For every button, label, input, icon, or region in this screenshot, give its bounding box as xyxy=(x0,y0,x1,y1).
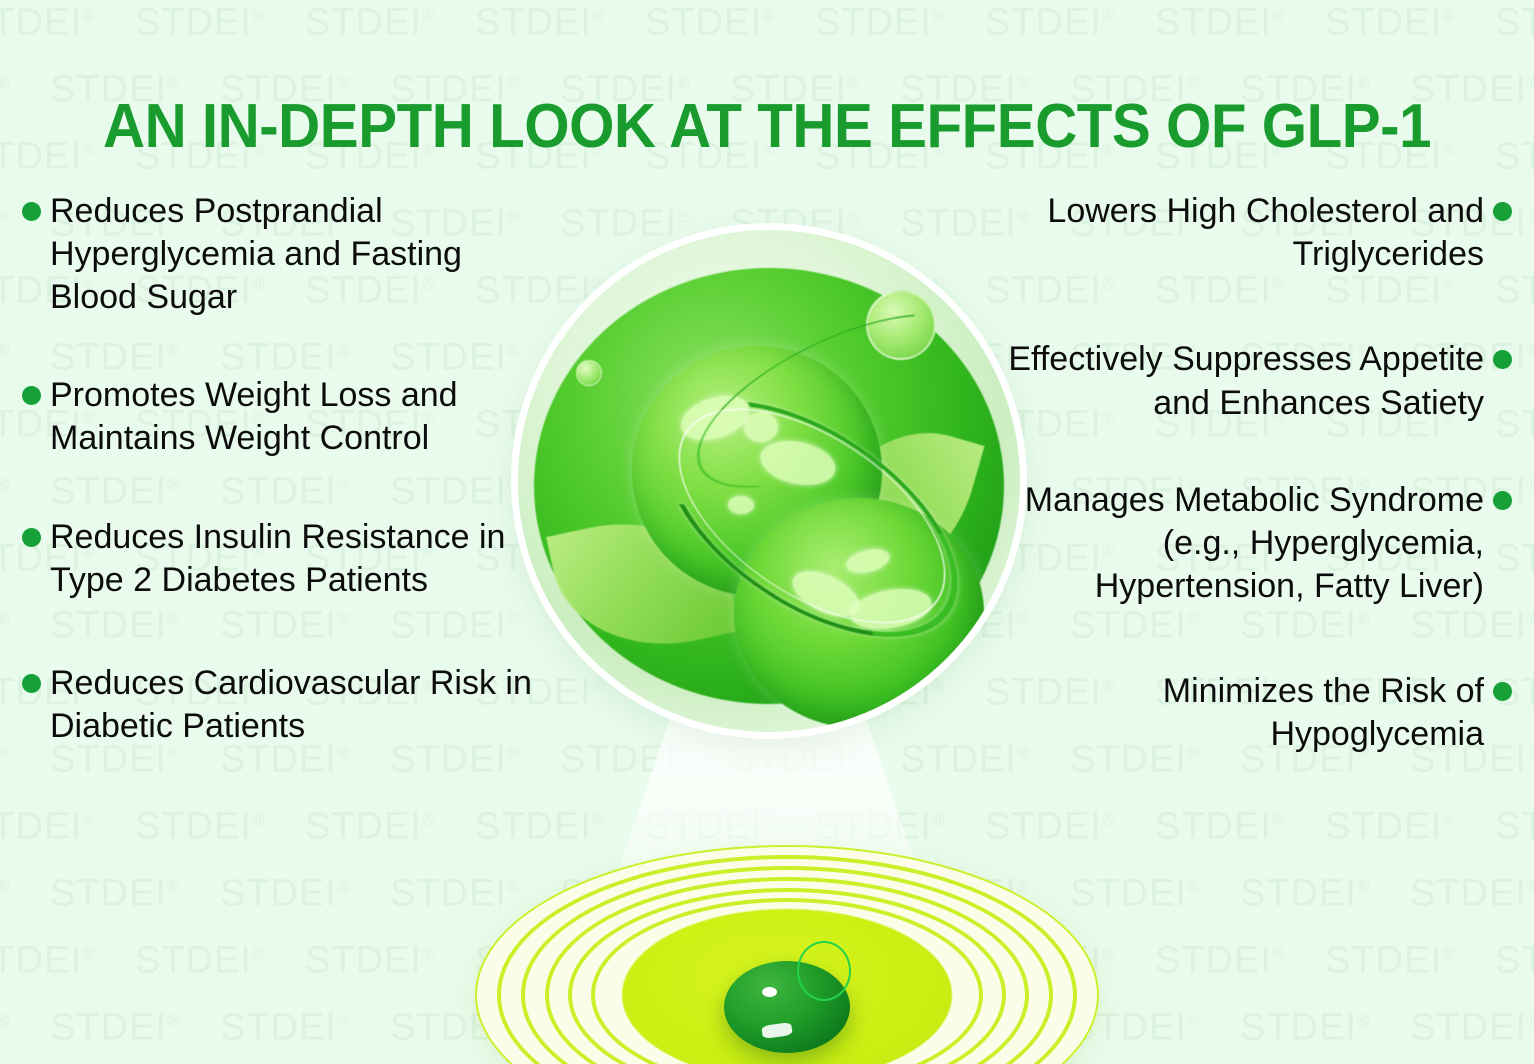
watermark-text: STDEI® xyxy=(475,920,645,995)
benefit-text: Promotes Weight Loss and Maintains Weigh… xyxy=(50,374,550,460)
watermark-text: STDEI® xyxy=(305,0,475,57)
list-item: Reduces Postprandial Hyperglycemia and F… xyxy=(22,190,582,320)
gel-blob-1 xyxy=(676,388,755,448)
benefit-text: Lowers High Cholesterol and Triglyceride… xyxy=(984,190,1484,276)
watermark-text: STDEI® xyxy=(305,1054,475,1064)
disc-ring-2 xyxy=(497,855,1077,1064)
watermark-row: STDEI®STDEI®STDEI®STDEI®STDEI®STDEI®STDE… xyxy=(0,1054,1534,1064)
watermark-text: STDEI® xyxy=(730,719,900,794)
watermark-text: STDEI® xyxy=(560,451,730,526)
watermark-text: STDEI® xyxy=(730,585,900,660)
disc-ring-4 xyxy=(545,877,1029,1064)
gel-blob-4 xyxy=(728,496,754,514)
watermark-text: STDEI® xyxy=(730,317,900,392)
watermark-text: STDEI® xyxy=(645,786,815,861)
watermark-text: STDEI® xyxy=(305,920,475,995)
watermark-text: STDEI® xyxy=(560,317,730,392)
list-item: Manages Metabolic Syndrome (e.g., Hyperg… xyxy=(952,479,1512,609)
watermark-text: STDEI® xyxy=(1240,987,1410,1062)
watermark-text: STDEI® xyxy=(135,920,305,995)
droplet-outline-ring xyxy=(797,941,851,1001)
watermark-text: STDEI® xyxy=(475,1054,645,1064)
gel-blob-2 xyxy=(744,412,778,442)
list-item: Reduces Cardiovascular Risk in Diabetic … xyxy=(22,662,582,748)
watermark-text: STDEI® xyxy=(985,0,1155,57)
watermark-text: STDEI® xyxy=(1325,1054,1495,1064)
watermark-text: STDEI® xyxy=(645,652,815,727)
watermark-text: STDEI® xyxy=(220,853,390,928)
watermark-text: STDEI® xyxy=(645,518,815,593)
gel-sphere-graphic xyxy=(518,230,1020,732)
gel-blob-6 xyxy=(844,545,892,577)
watermark-text: STDEI® xyxy=(730,183,900,258)
watermark-text: STDEI® xyxy=(0,49,50,124)
watermark-text: STDEI® xyxy=(0,920,135,995)
gel-blob-7 xyxy=(847,583,934,635)
watermark-text: STDEI® xyxy=(985,1054,1155,1064)
benefit-text: Reduces Insulin Resistance in Type 2 Dia… xyxy=(50,516,550,602)
watermark-text: STDEI® xyxy=(1495,116,1534,191)
bubble-large-bottom xyxy=(734,498,984,728)
watermark-text: STDEI® xyxy=(1155,0,1325,57)
watermark-text: STDEI® xyxy=(50,853,220,928)
watermark-row: STDEI®STDEI®STDEI®STDEI®STDEI®STDEI®STDE… xyxy=(0,920,1534,987)
disc-ring-6 xyxy=(591,898,983,1064)
watermark-text: STDEI® xyxy=(815,0,985,57)
watermark-text: STDEI® xyxy=(730,853,900,928)
droplet-highlight-small xyxy=(762,987,777,997)
watermark-text: STDEI® xyxy=(645,1054,815,1064)
watermark-text: STDEI® xyxy=(560,719,730,794)
watermark-text: STDEI® xyxy=(0,0,135,57)
list-item: Reduces Insulin Resistance in Type 2 Dia… xyxy=(22,516,582,602)
bullet-dot-icon xyxy=(1493,202,1512,221)
watermark-text: STDEI® xyxy=(1325,0,1495,57)
green-droplet-icon xyxy=(724,961,850,1053)
watermark-text: STDEI® xyxy=(645,0,815,57)
disc-base xyxy=(475,845,1099,1064)
bullet-dot-icon xyxy=(22,674,41,693)
watermark-row: STDEI®STDEI®STDEI®STDEI®STDEI®STDEI®STDE… xyxy=(0,987,1534,1054)
watermark-text: STDEI® xyxy=(645,384,815,459)
watermark-text: STDEI® xyxy=(730,987,900,1062)
watermark-text: STDEI® xyxy=(645,250,815,325)
watermark-text: STDEI® xyxy=(50,987,220,1062)
watermark-text: STDEI® xyxy=(560,585,730,660)
bullet-dot-icon xyxy=(1493,350,1512,369)
watermark-text: STDEI® xyxy=(1325,920,1495,995)
left-benefits-column: Reduces Postprandial Hyperglycemia and F… xyxy=(22,190,582,803)
watermark-text: STDEI® xyxy=(220,987,390,1062)
list-item: Promotes Weight Loss and Maintains Weigh… xyxy=(22,374,582,460)
watermark-text: STDEI® xyxy=(1410,987,1534,1062)
watermark-text: STDEI® xyxy=(560,987,730,1062)
bubble-small-top-right xyxy=(866,290,936,360)
watermark-text: STDEI® xyxy=(1495,0,1534,57)
bullet-dot-icon xyxy=(22,386,41,405)
list-item: Effectively Suppresses Appetite and Enha… xyxy=(952,338,1512,424)
right-benefits-column: Lowers High Cholesterol and Triglyceride… xyxy=(952,190,1512,811)
watermark-text: STDEI® xyxy=(900,987,1070,1062)
watermark-text: STDEI® xyxy=(1070,853,1240,928)
disc-ring-1 xyxy=(475,845,1099,1064)
watermark-text: STDEI® xyxy=(985,920,1155,995)
sphere-body xyxy=(534,268,1004,704)
disc-ring-5 xyxy=(568,888,1006,1064)
watermark-text: STDEI® xyxy=(0,853,50,928)
watermark-text: STDEI® xyxy=(0,987,50,1062)
watermark-text: STDEI® xyxy=(1070,987,1240,1062)
bullet-dot-icon xyxy=(22,528,41,547)
watermark-text: STDEI® xyxy=(1240,853,1410,928)
bullet-dot-icon xyxy=(1493,491,1512,510)
list-item: Minimizes the Risk of Hypoglycemia xyxy=(952,670,1512,756)
watermark-text: STDEI® xyxy=(815,920,985,995)
watermark-text: STDEI® xyxy=(475,0,645,57)
bubble-large-top xyxy=(632,346,882,596)
disc-ring-3 xyxy=(521,866,1053,1064)
gel-blob-5 xyxy=(786,562,866,626)
watermark-text: STDEI® xyxy=(390,853,560,928)
watermark-text: STDEI® xyxy=(645,920,815,995)
benefit-text: Minimizes the Risk of Hypoglycemia xyxy=(984,670,1484,756)
gel-blob-3 xyxy=(756,435,839,492)
benefit-text: Reduces Cardiovascular Risk in Diabetic … xyxy=(50,662,550,748)
watermark-text: STDEI® xyxy=(1495,1054,1534,1064)
benefit-text: Effectively Suppresses Appetite and Enha… xyxy=(984,338,1484,424)
watermark-text: STDEI® xyxy=(1495,920,1534,995)
orbit-ring-icon xyxy=(624,354,998,685)
watermark-text: STDEI® xyxy=(390,987,560,1062)
watermark-text: STDEI® xyxy=(900,853,1070,928)
watermark-text: STDEI® xyxy=(560,183,730,258)
watermark-text: STDEI® xyxy=(1155,1054,1325,1064)
watermark-text: STDEI® xyxy=(135,0,305,57)
bullet-dot-icon xyxy=(1493,682,1512,701)
droplet-highlight-large xyxy=(761,1022,793,1039)
watermark-row: STDEI®STDEI®STDEI®STDEI®STDEI®STDEI®STDE… xyxy=(0,0,1534,49)
infographic-canvas: STDEI®STDEI®STDEI®STDEI®STDEI®STDEI®STDE… xyxy=(0,0,1534,1064)
disc-core xyxy=(622,909,952,1064)
bullet-dot-icon xyxy=(22,202,41,221)
page-title: AN IN-DEPTH LOOK AT THE EFFECTS OF GLP-1 xyxy=(46,94,1488,159)
watermark-text: STDEI® xyxy=(560,853,730,928)
watermark-text: STDEI® xyxy=(0,1054,135,1064)
benefit-text: Manages Metabolic Syndrome (e.g., Hyperg… xyxy=(984,479,1484,609)
watermark-text: STDEI® xyxy=(1410,853,1534,928)
light-beam-icon xyxy=(598,690,938,930)
ripple-disc-graphic xyxy=(475,845,1099,1064)
benefit-text: Reduces Postprandial Hyperglycemia and F… xyxy=(50,190,550,320)
watermark-text: STDEI® xyxy=(135,1054,305,1064)
watermark-row: STDEI®STDEI®STDEI®STDEI®STDEI®STDEI®STDE… xyxy=(0,853,1534,920)
orbit-ring-highlight xyxy=(642,365,982,666)
watermark-text: STDEI® xyxy=(1155,920,1325,995)
list-item: Lowers High Cholesterol and Triglyceride… xyxy=(952,190,1512,276)
watermark-text: STDEI® xyxy=(815,1054,985,1064)
watermark-text: STDEI® xyxy=(730,451,900,526)
